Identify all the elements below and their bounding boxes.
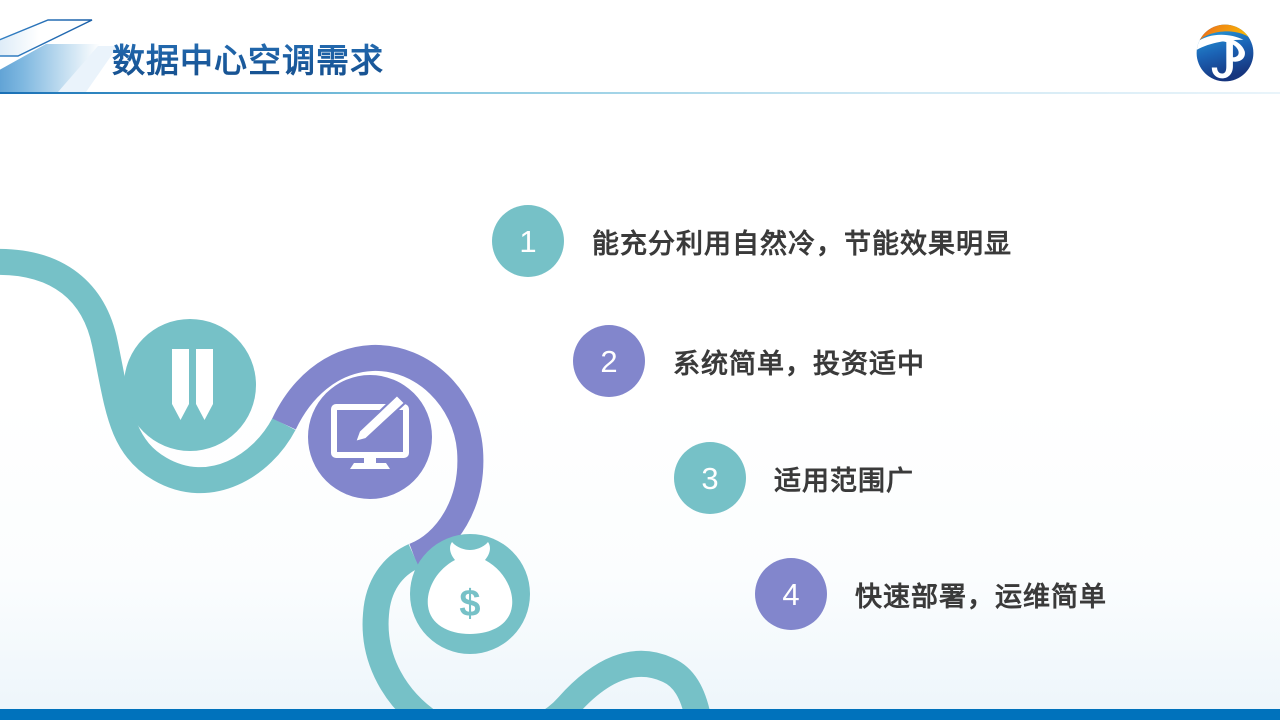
slide-canvas: 数据中心空调需求 — [0, 0, 1280, 720]
bullet-text-1: 能充分利用自然冷，节能效果明显 — [592, 222, 1012, 261]
bullet-item-2[interactable]: 2 系统简单，投资适中 — [573, 325, 925, 397]
bullet-item-1[interactable]: 1 能充分利用自然冷，节能效果明显 — [492, 205, 1012, 277]
bullet-number-badge-3: 3 — [674, 442, 746, 514]
bullet-text-2: 系统简单，投资适中 — [673, 342, 925, 381]
bullet-text-4: 快速部署，运维简单 — [855, 575, 1107, 614]
bullet-number-badge-4: 4 — [755, 558, 827, 630]
bullet-number-badge-2: 2 — [573, 325, 645, 397]
slide-bottom-bar — [0, 709, 1280, 720]
bullet-text-3: 适用范围广 — [774, 459, 914, 498]
bullet-list: 1 能充分利用自然冷，节能效果明显 2 系统简单，投资适中 3 适用范围广 4 … — [0, 0, 1280, 720]
bullet-item-3[interactable]: 3 适用范围广 — [674, 442, 914, 514]
bullet-item-4[interactable]: 4 快速部署，运维简单 — [755, 558, 1107, 630]
bullet-number-badge-1: 1 — [492, 205, 564, 277]
